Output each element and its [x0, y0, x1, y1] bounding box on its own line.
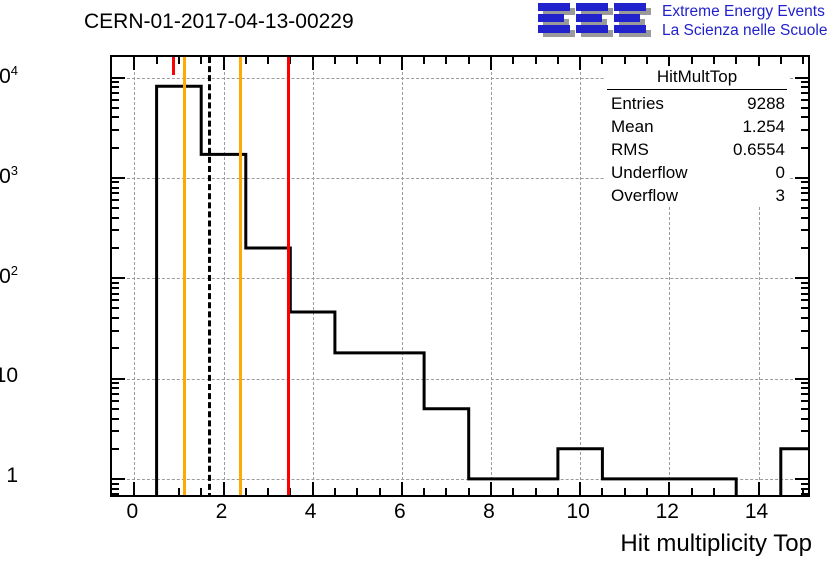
x-axis-tick-label: 2 [216, 500, 228, 524]
eee-mark-icon [538, 3, 658, 37]
stats-row-key: Overflow [611, 185, 678, 206]
x-axis-tick-label: 14 [745, 500, 768, 524]
eee-letter-icon [538, 3, 570, 35]
x-axis-tick-label: 8 [483, 500, 495, 524]
stats-box: HitMultTop Entries9288Mean1.254RMS0.6554… [605, 66, 789, 207]
x-axis-tick-label: 6 [394, 500, 406, 524]
stats-row-value: 9288 [747, 93, 785, 114]
eee-logo-line2: La Scienza nelle Scuole [662, 21, 827, 40]
y-axis-tick-label: 102 [0, 263, 18, 289]
stats-row: Entries9288 [605, 92, 789, 115]
stats-divider [607, 89, 787, 90]
stats-row-value: 0 [776, 162, 785, 183]
marker-mean-dashed [208, 57, 211, 495]
stats-row: Underflow0 [605, 161, 789, 184]
eee-logo-text: Extreme Energy Events La Scienza nelle S… [662, 2, 827, 40]
y-axis-tick-label: 1 [6, 464, 18, 488]
y-axis-tick-label: 103 [0, 163, 18, 189]
marker-red-right [287, 57, 290, 495]
stats-row-value: 1.254 [742, 116, 785, 137]
stats-rows: Entries9288Mean1.254RMS0.6554Underflow0O… [605, 92, 789, 207]
eee-logo: Extreme Energy Events La Scienza nelle S… [538, 2, 834, 42]
x-axis-tick-label: 10 [567, 500, 590, 524]
stats-row-key: Mean [611, 116, 654, 137]
stats-row: Overflow3 [605, 184, 789, 207]
stats-row-key: Underflow [611, 162, 688, 183]
eee-logo-line1: Extreme Energy Events [662, 2, 827, 21]
eee-letter-icon [576, 3, 608, 35]
marker-red-left [172, 57, 175, 75]
stats-row-value: 3 [776, 185, 785, 206]
stats-row: RMS0.6554 [605, 138, 789, 161]
stats-row: Mean1.254 [605, 115, 789, 138]
y-axis-tick-label: 104 [0, 63, 18, 89]
stats-row-value: 0.6554 [733, 139, 785, 160]
marker-orange-left [183, 57, 186, 495]
stats-title: HitMultTop [605, 66, 789, 89]
stats-row-key: RMS [611, 139, 649, 160]
x-axis-tick-label: 0 [126, 500, 138, 524]
eee-letter-icon [614, 3, 646, 35]
y-axis-tick-label: 10 [0, 364, 18, 388]
stats-row-key: Entries [611, 93, 664, 114]
page-title: CERN-01-2017-04-13-00229 [84, 10, 354, 34]
marker-orange-right [239, 57, 242, 495]
x-axis-tick-label: 4 [305, 500, 317, 524]
x-axis-tick-label: 12 [656, 500, 679, 524]
x-axis-title: Hit multiplicity Top [620, 530, 812, 558]
